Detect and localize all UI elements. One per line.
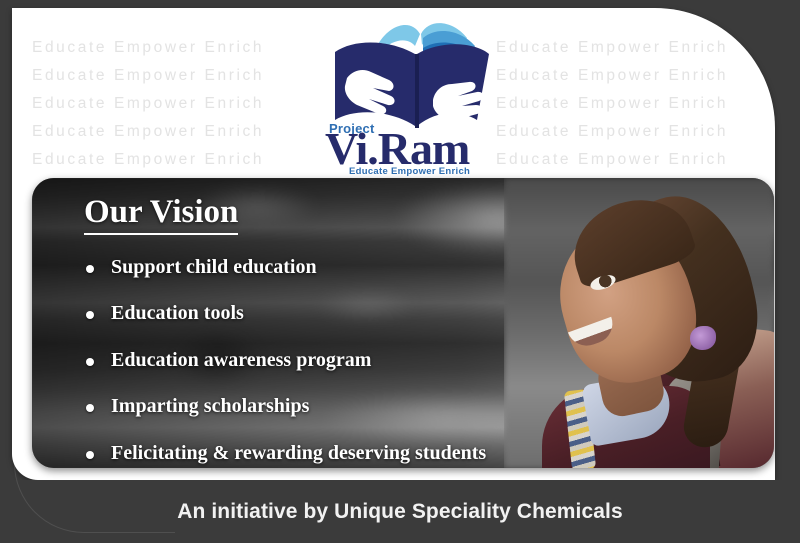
watermark-line: Educate Empower Enrich [32, 90, 264, 118]
watermark-column-right: Educate Empower Enrich Educate Empower E… [496, 34, 728, 174]
footer-initiative-text: An initiative by Unique Speciality Chemi… [177, 500, 623, 524]
watermark-line: Educate Empower Enrich [32, 146, 264, 174]
list-item: Education tools [84, 302, 774, 325]
page-title: Our Vision [84, 194, 238, 235]
project-viram-logo: Project Vi.Ram Educate Empower Enrich [317, 8, 502, 183]
logo-tagline: Educate Empower Enrich [349, 166, 470, 177]
watermark-line: Educate Empower Enrich [32, 62, 264, 90]
watermark-line: Educate Empower Enrich [496, 90, 728, 118]
footer-bar: An initiative by Unique Speciality Chemi… [0, 480, 800, 543]
list-item: Education awareness program [84, 349, 774, 372]
vision-panel: Our Vision Support child education Educa… [32, 178, 774, 468]
vision-content: Our Vision Support child education Educa… [32, 178, 774, 468]
watermark-column-left: Educate Empower Enrich Educate Empower E… [32, 34, 264, 174]
list-item: Imparting scholarships [84, 395, 774, 418]
watermark-line: Educate Empower Enrich [496, 146, 728, 174]
watermark-line: Educate Empower Enrich [32, 118, 264, 146]
watermark-line: Educate Empower Enrich [496, 62, 728, 90]
watermark-line: Educate Empower Enrich [496, 118, 728, 146]
presentation-slide: Educate Empower Enrich Educate Empower E… [0, 0, 800, 543]
vision-bullet-list: Support child education Education tools … [84, 256, 774, 465]
list-item: Support child education [84, 256, 774, 279]
watermark-line: Educate Empower Enrich [496, 34, 728, 62]
open-book-with-hands-icon [317, 8, 502, 138]
watermark-line: Educate Empower Enrich [32, 34, 264, 62]
white-content-card: Educate Empower Enrich Educate Empower E… [12, 8, 775, 480]
list-item: Felicitating & rewarding deserving stude… [84, 442, 774, 465]
